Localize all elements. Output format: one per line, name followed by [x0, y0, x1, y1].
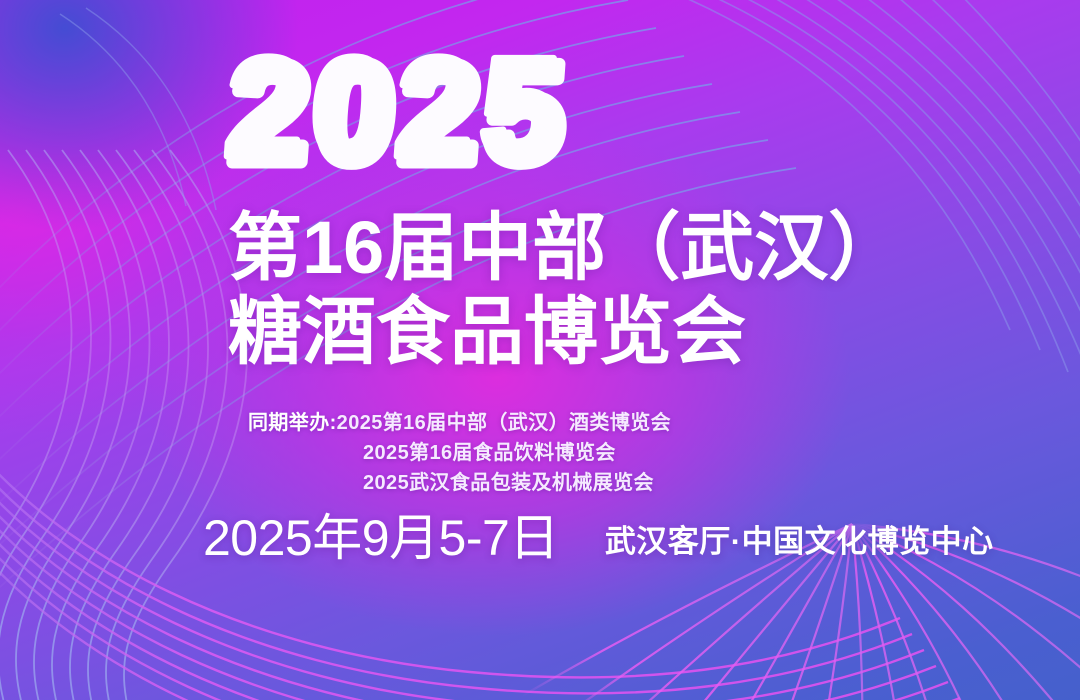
event-poster: 2025 2025 第16届中部（武汉） 糖酒食品博览会 同期举办:2025第1… — [0, 0, 1080, 700]
concurrent-events-block: 同期举办:2025第16届中部（武汉）酒类博览会 2025第16届食品饮料博览会… — [248, 408, 671, 498]
year-badge-svg: 2025 2025 — [222, 46, 692, 186]
title-line-2: 糖酒食品博览会 — [228, 290, 902, 374]
concurrent-event-2: 2025第16届食品饮料博览会 — [248, 438, 671, 468]
year-badge: 2025 2025 — [222, 46, 692, 186]
concurrent-event-3: 2025武汉食品包装及机械展览会 — [248, 468, 671, 498]
event-venue: 武汉客厅·中国文化博览中心 — [605, 522, 994, 562]
event-date: 2025年9月5-7日 — [203, 510, 559, 566]
concurrent-line-1: 同期举办:2025第16届中部（武汉）酒类博览会 — [248, 408, 671, 438]
title-line-1: 第16届中部（武汉） — [228, 206, 902, 290]
concurrent-event-1: 2025第16届中部（武汉）酒类博览会 — [337, 412, 671, 434]
year-badge-text: 2025 — [220, 28, 571, 187]
date-venue-row: 2025年9月5-7日 武汉客厅·中国文化博览中心 — [203, 510, 994, 566]
concurrent-label: 同期举办: — [248, 412, 337, 434]
poster-content: 2025 2025 第16届中部（武汉） 糖酒食品博览会 同期举办:2025第1… — [0, 0, 1080, 700]
poster-title: 第16届中部（武汉） 糖酒食品博览会 — [228, 206, 902, 374]
